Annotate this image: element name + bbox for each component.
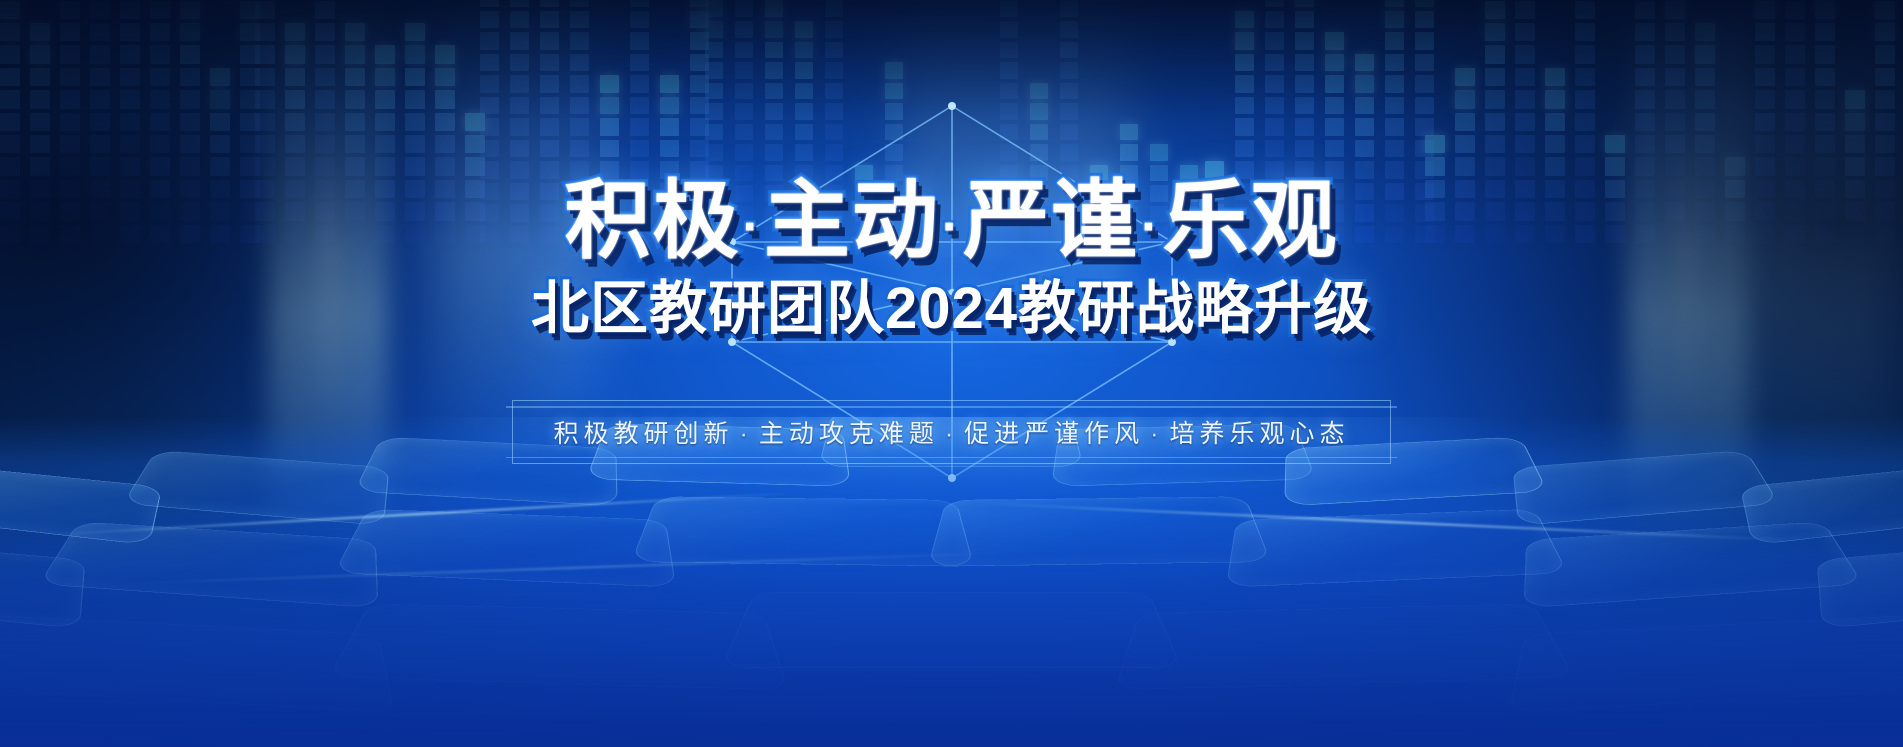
title-separator-icon: · xyxy=(743,198,762,256)
tagline-separator-icon: · xyxy=(1144,420,1169,448)
tagline: 积极教研创新·主动攻克难题·促进严谨作风·培养乐观心态 xyxy=(553,414,1349,450)
main-title-word-2: 主动 xyxy=(764,173,940,269)
tagline-item-1: 积极教研创新 xyxy=(553,420,733,448)
main-title: 积极·主动·严谨·乐观 xyxy=(565,178,1339,264)
main-title-word-4: 乐观 xyxy=(1162,173,1338,269)
subtitle: 北区教研团队2024教研战略升级 xyxy=(531,280,1372,338)
tagline-item-4: 培养乐观心态 xyxy=(1170,420,1350,448)
tagline-separator-icon: · xyxy=(939,420,964,448)
title-separator-icon: · xyxy=(1141,198,1160,256)
main-title-word-3: 严谨 xyxy=(963,173,1139,269)
title-separator-icon: · xyxy=(942,198,961,256)
main-title-word-1: 积极 xyxy=(565,173,741,269)
banner-root: 积极·主动·严谨·乐观 北区教研团队2024教研战略升级 积极教研创新·主动攻克… xyxy=(0,0,1903,747)
tagline-separator-icon: · xyxy=(733,420,758,448)
tagline-item-3: 促进严谨作风 xyxy=(964,420,1144,448)
tagline-item-2: 主动攻克难题 xyxy=(759,420,939,448)
tagline-box: 积极教研创新·主动攻克难题·促进严谨作风·培养乐观心态 xyxy=(512,400,1390,464)
banner-content: 积极·主动·严谨·乐观 北区教研团队2024教研战略升级 积极教研创新·主动攻克… xyxy=(0,0,1903,747)
